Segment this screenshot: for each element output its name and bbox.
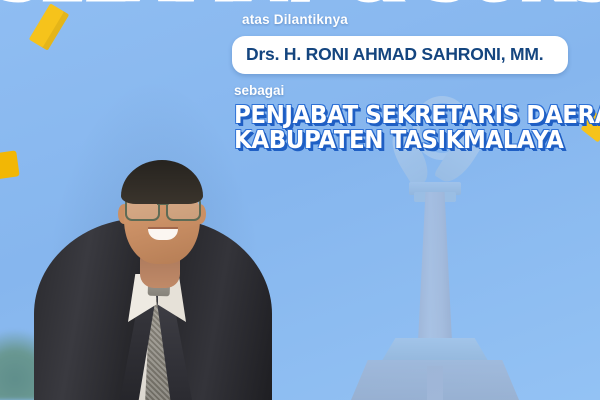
portrait-shirt	[132, 272, 186, 400]
congratulation-poster: SELAMAT & SUKSES atas Dilantiknya Drs. H…	[0, 0, 600, 400]
position-title-line-1: PENJABAT SEKRETARIS DAERAH	[234, 102, 556, 127]
monument-capital	[409, 182, 461, 195]
portrait-lens-left	[125, 196, 160, 221]
portrait-tie	[144, 284, 174, 400]
portrait-hair	[121, 160, 203, 204]
monument-capital-inner	[414, 192, 456, 202]
person-name: Drs. H. RONI AHMAD SAHRONI, MM.	[246, 44, 556, 65]
portrait-eyebrow-left	[129, 190, 153, 196]
monument-shaft	[418, 192, 452, 342]
kicker-text: atas Dilantiknya	[242, 12, 584, 27]
headline-cutoff-text: SELAMAT & SUKSES	[0, 0, 600, 12]
confetti-left-edge	[0, 150, 20, 179]
monument-pillar	[427, 366, 443, 400]
name-box: Drs. H. RONI AHMAD SAHRONI, MM.	[232, 36, 568, 74]
portrait-tie-knot	[148, 274, 171, 297]
portrait-lapel-left	[120, 260, 156, 400]
portrait-collar-right	[158, 274, 186, 322]
confetti-top-left	[29, 3, 69, 50]
monument-base-upper	[380, 338, 490, 364]
portrait-collar-left	[128, 274, 156, 322]
sebagai-label: sebagai	[234, 83, 584, 98]
portrait-smile	[148, 229, 178, 240]
portrait-ear-right	[194, 204, 206, 224]
portrait-eyebrow-right	[174, 190, 198, 196]
portrait-ear-left	[118, 204, 130, 224]
portrait-face	[124, 166, 200, 264]
portrait-lens-right	[166, 196, 201, 221]
foliage-decoration	[0, 330, 64, 400]
portrait-glasses-bridge	[157, 203, 169, 205]
text-content-column: atas Dilantiknya Drs. H. RONI AHMAD SAHR…	[232, 12, 584, 152]
portrait-neck	[140, 246, 180, 288]
portrait-lapel-right	[152, 260, 192, 400]
position-title-line-2: KABUPATEN TASIKMALAYA	[234, 127, 556, 152]
position-title: PENJABAT SEKRETARIS DAERAH KABUPATEN TAS…	[234, 102, 556, 152]
portrait-suit	[34, 218, 272, 400]
monument-base-lower	[351, 360, 519, 400]
portrait-glasses-icon	[124, 196, 202, 218]
